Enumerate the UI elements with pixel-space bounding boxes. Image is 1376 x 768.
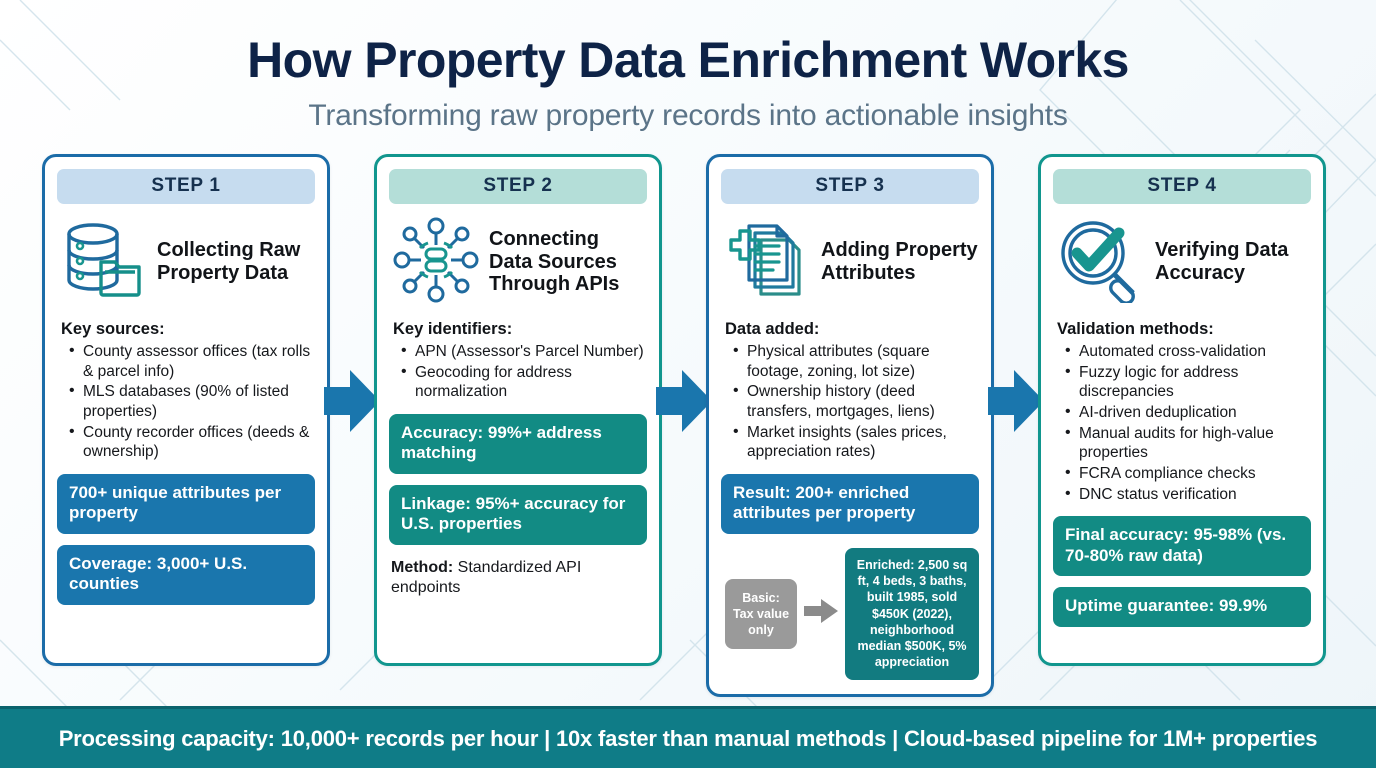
step-card-2[interactable]: STEP 2 xyxy=(374,154,662,666)
connector-gap-3 xyxy=(994,154,1038,666)
step-title-3: Adding Property Attributes xyxy=(821,239,979,285)
list-item: County assessor offices (tax rolls & par… xyxy=(69,342,315,381)
step-section-label-2: Key identifiers: xyxy=(393,320,647,339)
step-card-4[interactable]: STEP 4 Verifying Data Accuracy Validatio… xyxy=(1038,154,1326,666)
step-badge-3: STEP 3 xyxy=(721,169,979,204)
list-item: AI-driven deduplication xyxy=(1065,403,1311,423)
list-item: County recorder offices (deeds & ownersh… xyxy=(69,423,315,462)
step-title-4: Verifying Data Accuracy xyxy=(1155,239,1311,285)
step-section-label-4: Validation methods: xyxy=(1057,320,1311,339)
list-item: MLS databases (90% of listed properties) xyxy=(69,382,315,421)
step-stat-pill: Final accuracy: 95-98% (vs. 70-80% raw d… xyxy=(1053,516,1311,576)
step-card-3[interactable]: STEP 3 xyxy=(706,154,994,697)
list-item: Geocoding for address normalization xyxy=(401,363,647,402)
list-item: Ownership history (deed transfers, mortg… xyxy=(733,382,979,421)
list-item: DNC status verification xyxy=(1065,485,1311,505)
comparison-basic-box: Basic: Tax value only xyxy=(725,579,797,649)
step-heading-2: Connecting Data Sources Through APIs xyxy=(393,216,647,308)
arrow-step3-to-step4 xyxy=(988,366,1044,436)
before-after-comparison: Basic: Tax value only Enriched: 2,500 sq… xyxy=(721,548,979,680)
step-section-label-1: Key sources: xyxy=(61,320,315,339)
step-stat-pill: 700+ unique attributes per property xyxy=(57,474,315,534)
list-item: FCRA compliance checks xyxy=(1065,464,1311,484)
step-bullets-3: Physical attributes (square footage, zon… xyxy=(733,342,979,463)
comparison-enriched-box: Enriched: 2,500 sq ft, 4 beds, 3 baths, … xyxy=(845,548,979,680)
connector-gap-1 xyxy=(330,154,374,666)
footer-stats-bar: Processing capacity: 10,000+ records per… xyxy=(0,706,1376,768)
infographic-header: How Property Data Enrichment Works Trans… xyxy=(0,0,1376,133)
step-stat-pill: Linkage: 95%+ accuracy for U.S. properti… xyxy=(389,485,647,545)
step-title-1: Collecting Raw Property Data xyxy=(157,239,315,285)
step-stat-pill: Accuracy: 99%+ address matching xyxy=(389,414,647,474)
list-item: APN (Assessor's Parcel Number) xyxy=(401,342,647,362)
step-method-label: Method: xyxy=(391,559,453,576)
step-stat-pill: Result: 200+ enriched attributes per pro… xyxy=(721,474,979,534)
step-section-label-3: Data added: xyxy=(725,320,979,339)
list-item: Automated cross-validation xyxy=(1065,342,1311,362)
list-item: Physical attributes (square footage, zon… xyxy=(733,342,979,381)
database-folder-icon xyxy=(61,220,147,305)
card-spacer xyxy=(1053,627,1311,649)
connector-gap-2 xyxy=(662,154,706,666)
step-badge-1: STEP 1 xyxy=(57,169,315,204)
page-subtitle: Transforming raw property records into a… xyxy=(0,99,1376,133)
card-spacer xyxy=(57,605,315,649)
page-title: How Property Data Enrichment Works xyxy=(0,34,1376,87)
step-bullets-2: APN (Assessor's Parcel Number) Geocoding… xyxy=(401,342,647,403)
step-method-line: Method: Standardized API endpoints xyxy=(391,558,647,598)
step-title-2: Connecting Data Sources Through APIs xyxy=(489,228,647,296)
arrow-step2-to-step3 xyxy=(656,366,712,436)
step-stat-pill: Coverage: 3,000+ U.S. counties xyxy=(57,545,315,605)
step-heading-4: Verifying Data Accuracy xyxy=(1057,216,1311,308)
documents-plus-icon xyxy=(725,218,811,307)
card-spacer xyxy=(389,598,647,649)
step-stat-pill: Uptime guarantee: 99.9% xyxy=(1053,587,1311,626)
step-heading-1: Collecting Raw Property Data xyxy=(61,216,315,308)
step-badge-4: STEP 4 xyxy=(1053,169,1311,204)
steps-container: STEP 1 xyxy=(0,133,1376,697)
step-badge-2: STEP 2 xyxy=(389,169,647,204)
footer-stats-text: Processing capacity: 10,000+ records per… xyxy=(59,726,1318,752)
step-card-1[interactable]: STEP 1 xyxy=(42,154,330,666)
list-item: Manual audits for high-value properties xyxy=(1065,424,1311,463)
api-network-nodes-icon xyxy=(393,217,479,308)
magnifier-check-icon xyxy=(1057,217,1145,308)
right-arrow-icon xyxy=(804,598,838,629)
step-heading-3: Adding Property Attributes xyxy=(725,216,979,308)
list-item: Fuzzy logic for address discrepancies xyxy=(1065,363,1311,402)
list-item: Market insights (sales prices, appreciat… xyxy=(733,423,979,462)
step-bullets-1: County assessor offices (tax rolls & par… xyxy=(69,342,315,463)
step-bullets-4: Automated cross-validation Fuzzy logic f… xyxy=(1065,342,1311,505)
arrow-step1-to-step2 xyxy=(324,366,380,436)
